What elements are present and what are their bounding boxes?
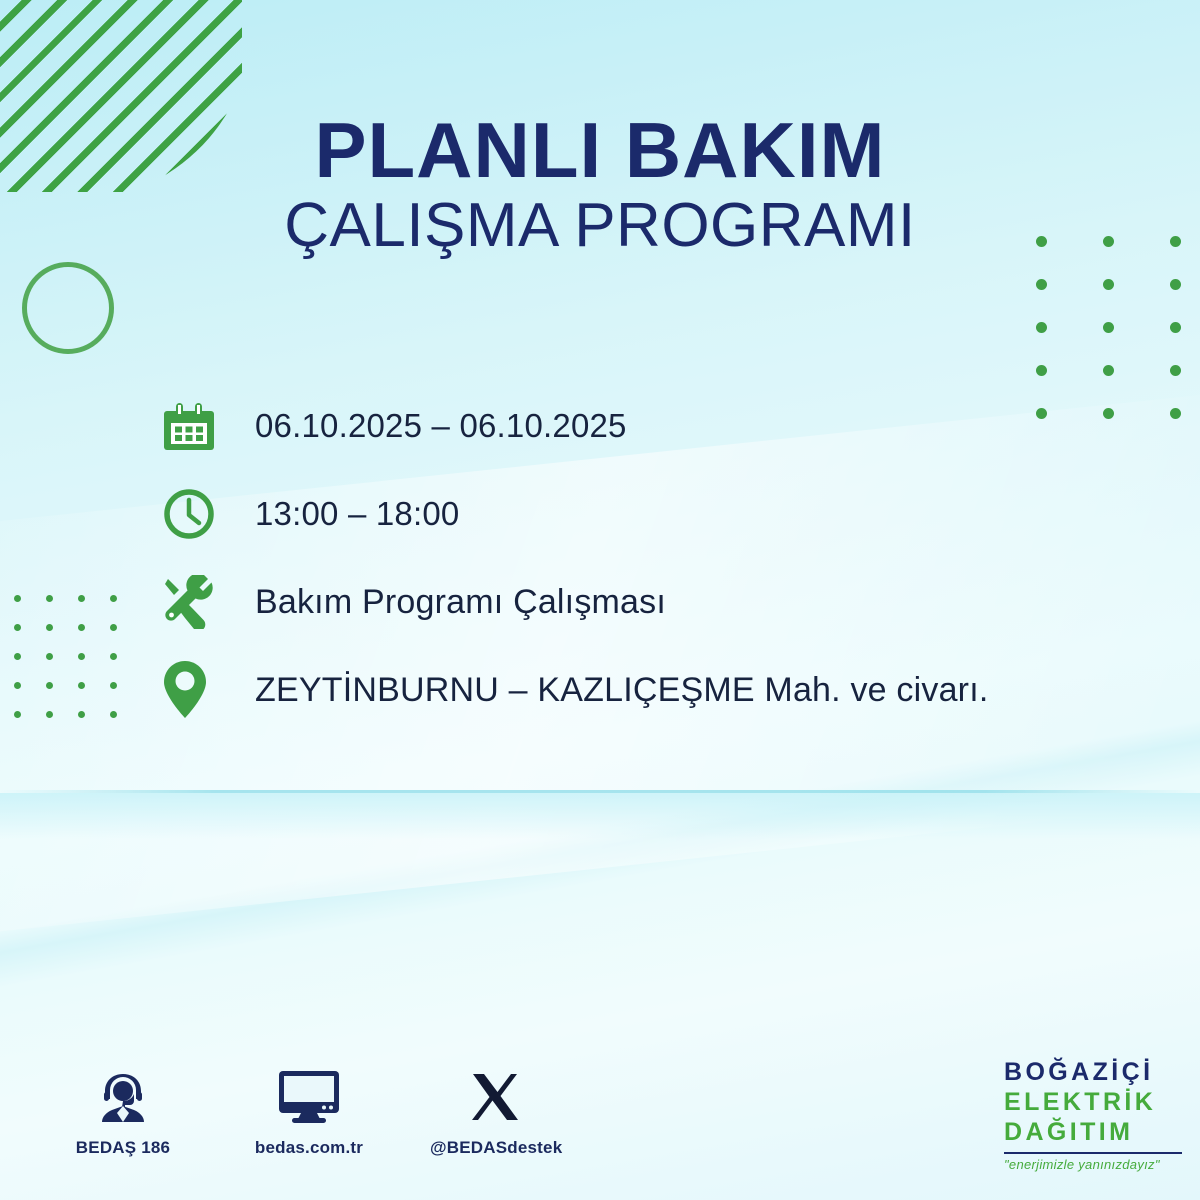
decoration-dot bbox=[14, 624, 21, 631]
decoration-dot bbox=[1036, 322, 1047, 333]
info-row-location: ZEYTİNBURNU – KAZLIÇEŞME Mah. ve civarı. bbox=[163, 646, 1143, 734]
tools-icon bbox=[163, 575, 255, 629]
decoration-dot bbox=[14, 595, 21, 602]
poster-canvas: PLANLI BAKIM ÇALIŞMA PROGRAMI bbox=[0, 0, 1200, 1200]
decoration-dot bbox=[46, 653, 53, 660]
contact-website-label: bedas.com.tr bbox=[244, 1138, 374, 1158]
decoration-dot bbox=[110, 653, 117, 660]
decoration-dot bbox=[1036, 365, 1047, 376]
info-list: 06.10.2025 – 06.10.2025 13:00 – 18:00 bbox=[163, 382, 1143, 734]
decoration-dot bbox=[1103, 322, 1114, 333]
decoration-dot bbox=[46, 682, 53, 689]
logo-line-elektrik: ELEKTRİK bbox=[1004, 1090, 1182, 1115]
decoration-dot bbox=[14, 682, 21, 689]
decoration-dot bbox=[14, 653, 21, 660]
decoration-dot bbox=[1103, 365, 1114, 376]
decoration-dot bbox=[1170, 408, 1181, 419]
info-row-date-text: 06.10.2025 – 06.10.2025 bbox=[255, 407, 627, 445]
clock-icon bbox=[163, 488, 255, 540]
info-row-work: Bakım Programı Çalışması bbox=[163, 558, 1143, 646]
calendar-icon bbox=[163, 400, 255, 452]
circle-outline-decoration bbox=[22, 262, 114, 354]
decoration-dot bbox=[110, 682, 117, 689]
logo-tagline: "enerjimizle yanınızdayız" bbox=[1004, 1158, 1182, 1171]
decoration-dot bbox=[1036, 279, 1047, 290]
contact-social[interactable]: @BEDASdestek bbox=[430, 1062, 560, 1158]
logo-divider bbox=[1004, 1152, 1182, 1154]
call-center-agent-icon bbox=[58, 1062, 188, 1132]
decoration-dot bbox=[46, 711, 53, 718]
x-twitter-icon bbox=[430, 1062, 560, 1132]
footer-contacts: BEDAŞ 186 bedas.com.tr @B bbox=[58, 1062, 560, 1158]
contact-social-label: @BEDASdestek bbox=[430, 1138, 560, 1158]
info-row-time-text: 13:00 – 18:00 bbox=[255, 495, 459, 533]
bedas-logo: BOĞAZİÇİ ELEKTRİK DAĞITIM "enerjimizle y… bbox=[1004, 1060, 1182, 1171]
decoration-dot bbox=[1170, 279, 1181, 290]
info-row-work-text: Bakım Programı Çalışması bbox=[255, 583, 666, 622]
title-line-2: ÇALIŞMA PROGRAMI bbox=[0, 190, 1200, 262]
decoration-dot bbox=[1103, 279, 1114, 290]
contact-phone-label: BEDAŞ 186 bbox=[58, 1138, 188, 1158]
logo-line-bogazici: BOĞAZİÇİ bbox=[1004, 1060, 1182, 1085]
decoration-dot bbox=[14, 711, 21, 718]
decoration-dot bbox=[1170, 322, 1181, 333]
info-row-date: 06.10.2025 – 06.10.2025 bbox=[163, 382, 1143, 470]
decoration-dot bbox=[110, 711, 117, 718]
page-title: PLANLI BAKIM ÇALIŞMA PROGRAMI bbox=[0, 112, 1200, 262]
info-row-location-text: ZEYTİNBURNU – KAZLIÇEŞME Mah. ve civarı. bbox=[255, 671, 989, 710]
location-pin-icon bbox=[163, 660, 255, 720]
decoration-dot bbox=[110, 595, 117, 602]
dot-grid-left-decoration bbox=[14, 595, 117, 718]
contact-website[interactable]: bedas.com.tr bbox=[244, 1062, 374, 1158]
monitor-icon bbox=[244, 1062, 374, 1132]
contact-phone[interactable]: BEDAŞ 186 bbox=[58, 1062, 188, 1158]
decoration-dot bbox=[78, 624, 85, 631]
decoration-dot bbox=[110, 624, 117, 631]
decoration-dot bbox=[78, 595, 85, 602]
decoration-dot bbox=[46, 595, 53, 602]
title-line-1: PLANLI BAKIM bbox=[0, 112, 1200, 188]
decoration-dot bbox=[78, 682, 85, 689]
info-row-time: 13:00 – 18:00 bbox=[163, 470, 1143, 558]
decoration-dot bbox=[78, 653, 85, 660]
decoration-dot bbox=[1170, 365, 1181, 376]
background-divider-glow bbox=[0, 793, 1200, 839]
decoration-dot bbox=[78, 711, 85, 718]
logo-line-dagitim: DAĞITIM bbox=[1004, 1120, 1182, 1145]
decoration-dot bbox=[46, 624, 53, 631]
